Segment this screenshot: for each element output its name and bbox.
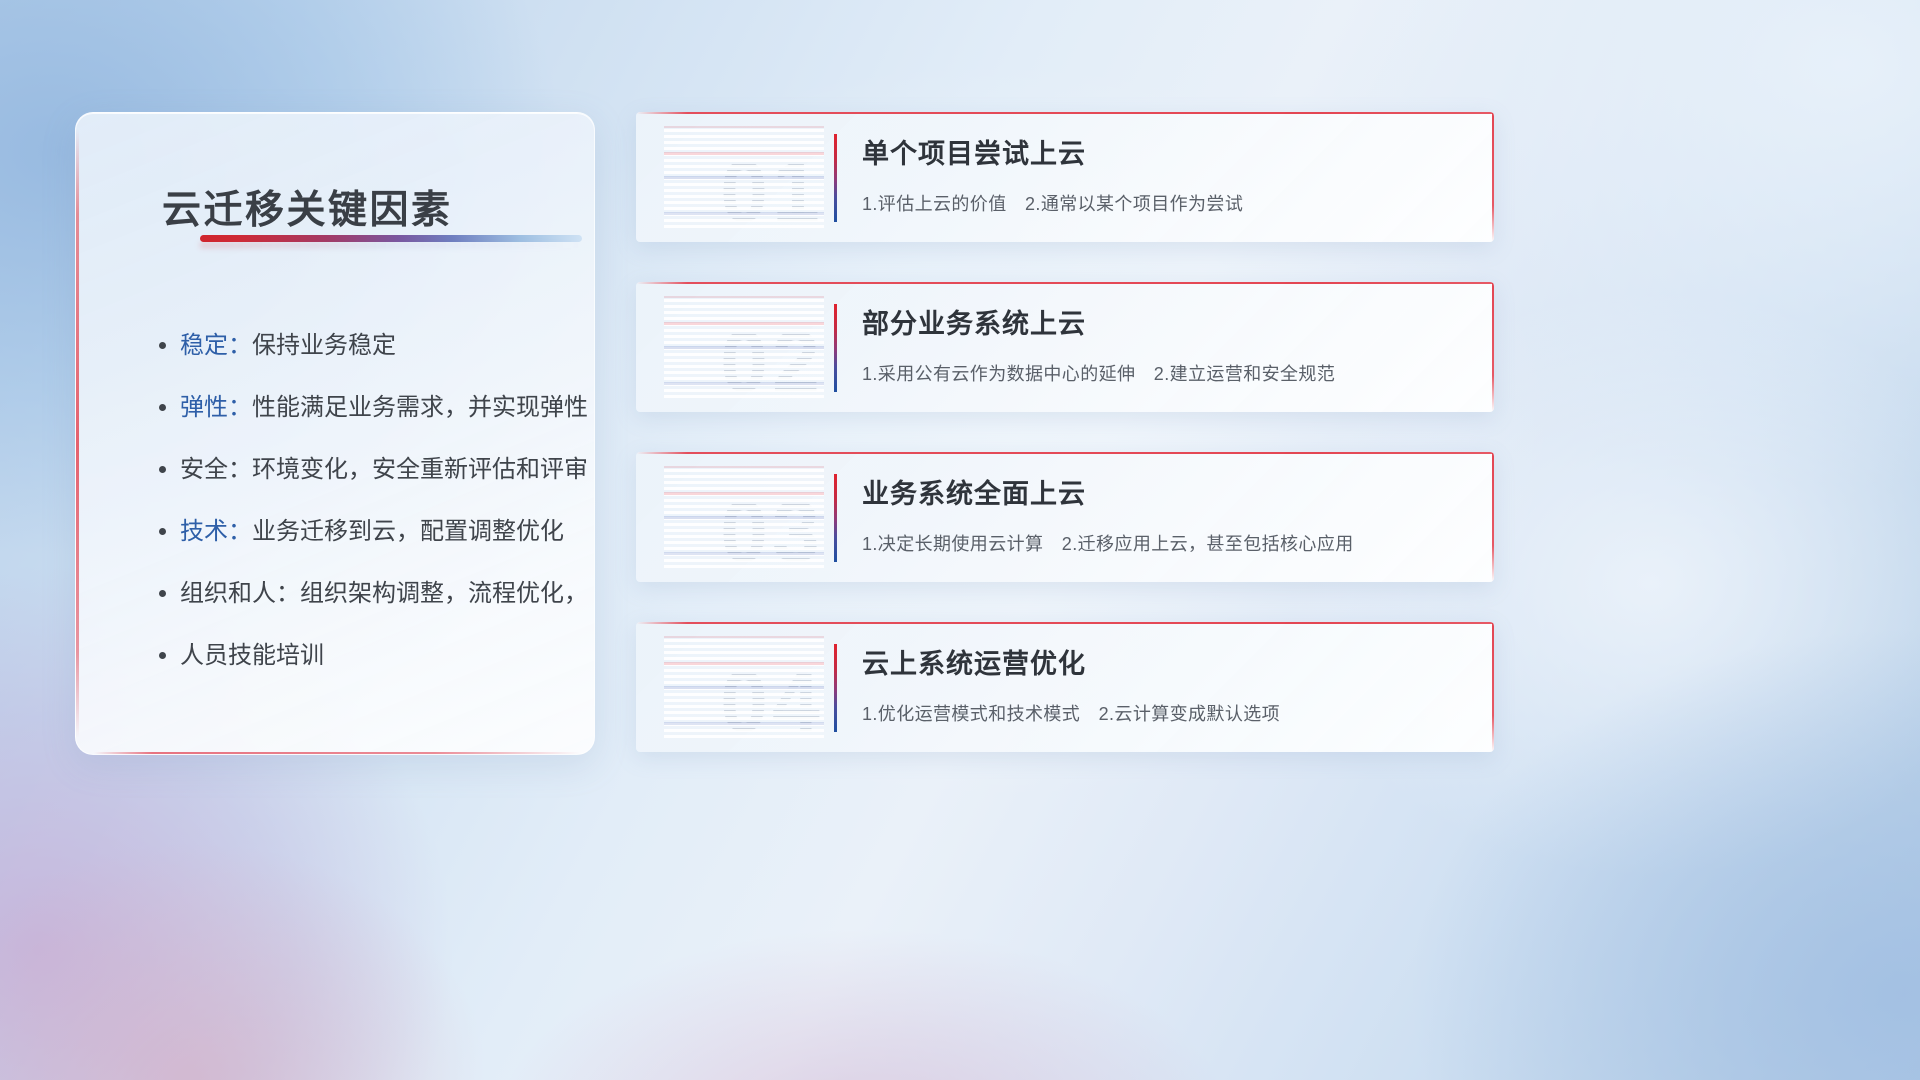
factor-value: 组织架构调整，流程优化， bbox=[300, 580, 588, 607]
factor-label: 技术： bbox=[180, 518, 252, 545]
stage-title: 部分业务系统上云 bbox=[862, 302, 1086, 341]
stage-number: 02 bbox=[692, 310, 852, 412]
stage-number-badge: 04 bbox=[664, 636, 824, 740]
stage-subtitle: 1.优化运营模式和技术模式 2.云计算变成默认选项 bbox=[862, 700, 1280, 726]
factor-row: 技术：业务迁移到云，配置调整优化 bbox=[180, 501, 568, 563]
stage-card[interactable]: 02部分业务系统上云1.采用公有云作为数据中心的延伸 2.建立运营和安全规范 bbox=[636, 282, 1494, 412]
stage-number-badge: 03 bbox=[664, 466, 824, 570]
factor-label: 组织和人： bbox=[180, 580, 300, 607]
factor-label: 稳定： bbox=[180, 332, 252, 359]
stage-title: 云上系统运营优化 bbox=[862, 642, 1086, 681]
factor-value: 保持业务稳定 bbox=[252, 332, 396, 359]
factor-value: 性能满足业务需求，并实现弹性 bbox=[252, 394, 588, 421]
stage-number: 01 bbox=[692, 140, 852, 242]
key-factors-panel: 云迁移关键因素 稳定：保持业务稳定弹性：性能满足业务需求，并实现弹性安全：环境变… bbox=[75, 112, 595, 755]
stage-card[interactable]: 03业务系统全面上云1.决定长期使用云计算 2.迁移应用上云，甚至包括核心应用 bbox=[636, 452, 1494, 582]
stage-number: 04 bbox=[692, 650, 852, 752]
stage-accent-bar bbox=[834, 474, 837, 562]
stage-accent-bar bbox=[834, 134, 837, 222]
factor-value: 人员技能培训 bbox=[180, 642, 324, 669]
factor-label: 弹性： bbox=[180, 394, 252, 421]
stage-accent-bar bbox=[834, 304, 837, 392]
stage-card-list: 01单个项目尝试上云1.评估上云的价值 2.通常以某个项目作为尝试02部分业务系… bbox=[636, 112, 1494, 792]
factor-row: 人员技能培训 bbox=[180, 625, 568, 687]
stage-accent-bar bbox=[834, 644, 837, 732]
factor-list: 稳定：保持业务稳定弹性：性能满足业务需求，并实现弹性安全：环境变化，安全重新评估… bbox=[180, 315, 568, 687]
factor-label: 安全： bbox=[180, 456, 252, 483]
factor-value: 环境变化，安全重新评估和评审 bbox=[252, 456, 588, 483]
factor-row: 安全：环境变化，安全重新评估和评审 bbox=[180, 439, 568, 501]
stage-subtitle: 1.决定长期使用云计算 2.迁移应用上云，甚至包括核心应用 bbox=[862, 530, 1354, 556]
stage-number-badge: 01 bbox=[664, 126, 824, 230]
stage-title: 单个项目尝试上云 bbox=[862, 132, 1086, 171]
stage-title: 业务系统全面上云 bbox=[862, 472, 1086, 511]
factor-row: 弹性：性能满足业务需求，并实现弹性 bbox=[180, 377, 568, 439]
stage-subtitle: 1.采用公有云作为数据中心的延伸 2.建立运营和安全规范 bbox=[862, 360, 1335, 386]
factor-row: 组织和人：组织架构调整，流程优化， bbox=[180, 563, 568, 625]
factor-row: 稳定：保持业务稳定 bbox=[180, 315, 568, 377]
stage-card[interactable]: 04云上系统运营优化1.优化运营模式和技术模式 2.云计算变成默认选项 bbox=[636, 622, 1494, 752]
factor-value: 业务迁移到云，配置调整优化 bbox=[252, 518, 564, 545]
page-title: 云迁移关键因素 bbox=[162, 179, 453, 235]
title-underline-accent bbox=[200, 235, 582, 242]
stage-card[interactable]: 01单个项目尝试上云1.评估上云的价值 2.通常以某个项目作为尝试 bbox=[636, 112, 1494, 242]
stage-number: 03 bbox=[692, 480, 852, 582]
stage-number-badge: 02 bbox=[664, 296, 824, 400]
stage-subtitle: 1.评估上云的价值 2.通常以某个项目作为尝试 bbox=[862, 190, 1243, 216]
